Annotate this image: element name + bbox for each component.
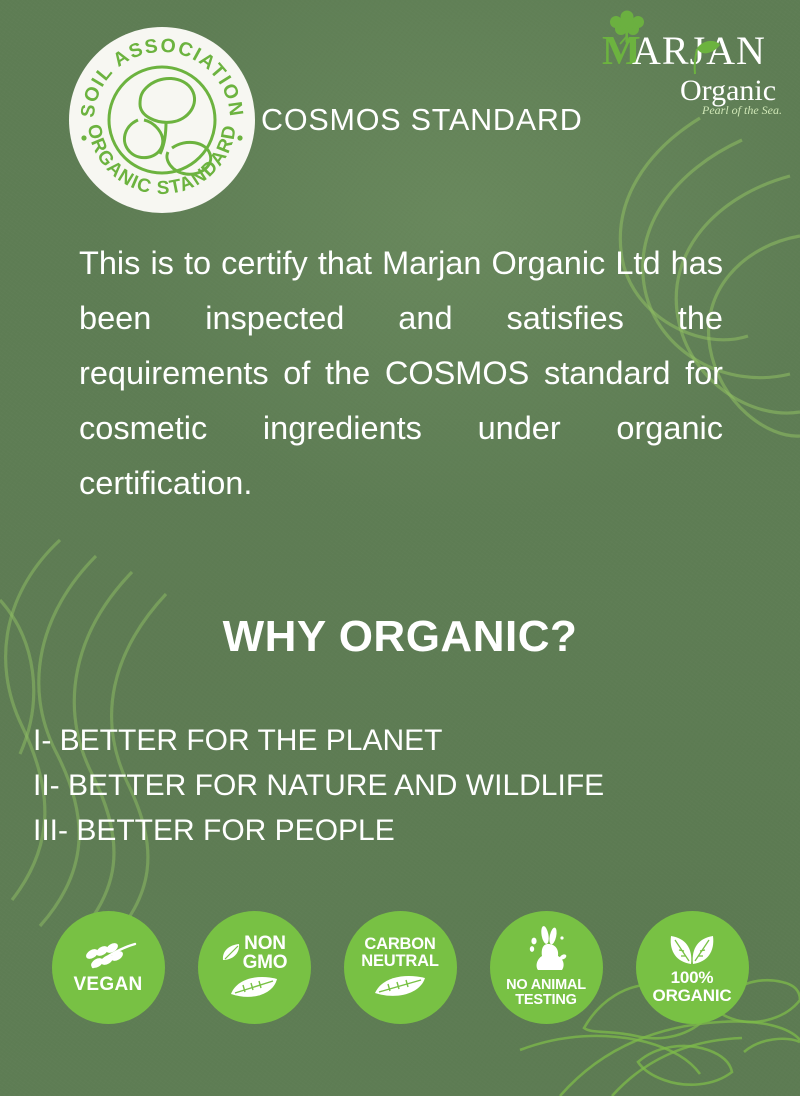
badge-label: VEGAN xyxy=(73,977,142,994)
leaf-icon xyxy=(229,974,279,1000)
badge-carbon-neutral: CARBON NEUTRAL xyxy=(344,911,457,1024)
badge-vegan: VEGAN xyxy=(52,911,165,1024)
badge-no-animal-testing: NO ANIMAL TESTING xyxy=(490,911,603,1024)
leaf-icon xyxy=(373,973,427,999)
poster-header: SOIL ASSOCIATION ORGANIC STANDARD COSMOS… xyxy=(0,0,800,222)
list-item: I- BETTER FOR THE PLANET xyxy=(33,718,773,763)
badge-non-gmo: NON GMO xyxy=(198,911,311,1024)
list-item: II- BETTER FOR NATURE AND WILDLIFE xyxy=(33,763,773,808)
badge-label: NON GMO xyxy=(243,934,288,972)
badge-label: CARBON NEUTRAL xyxy=(361,936,438,970)
why-organic-heading: WHY ORGANIC? xyxy=(0,612,800,662)
badge-100-organic: 100% ORGANIC xyxy=(636,911,749,1024)
two-leaves-icon xyxy=(667,930,717,966)
certificate-body-text: This is to certify that Marjan Organic L… xyxy=(79,236,723,511)
rabbit-icon xyxy=(524,926,568,976)
soil-association-seal-icon: SOIL ASSOCIATION ORGANIC STANDARD xyxy=(68,26,256,214)
leaf-icon xyxy=(221,942,241,964)
why-organic-reason-list: I- BETTER FOR THE PLANET II- BETTER FOR … xyxy=(33,718,773,853)
certification-badge-row: VEGAN NON GMO CARBON NEUTRAL xyxy=(0,908,800,1026)
certificate-poster: SOIL ASSOCIATION ORGANIC STANDARD COSMOS… xyxy=(0,0,800,1096)
badge-label: 100% ORGANIC xyxy=(653,969,732,1004)
certificate-text-content: This is to certify that Marjan Organic L… xyxy=(79,245,723,501)
marjan-organic-logo: M ARJAN Organic Pearl of the Sea.. xyxy=(594,8,782,120)
page-title: COSMOS STANDARD xyxy=(261,103,583,138)
badge-label: NO ANIMAL TESTING xyxy=(506,978,586,1008)
olive-branch-icon xyxy=(77,940,139,974)
brand-tagline: Pearl of the Sea.. xyxy=(701,103,782,117)
list-item: III- BETTER FOR PEOPLE xyxy=(33,808,773,853)
